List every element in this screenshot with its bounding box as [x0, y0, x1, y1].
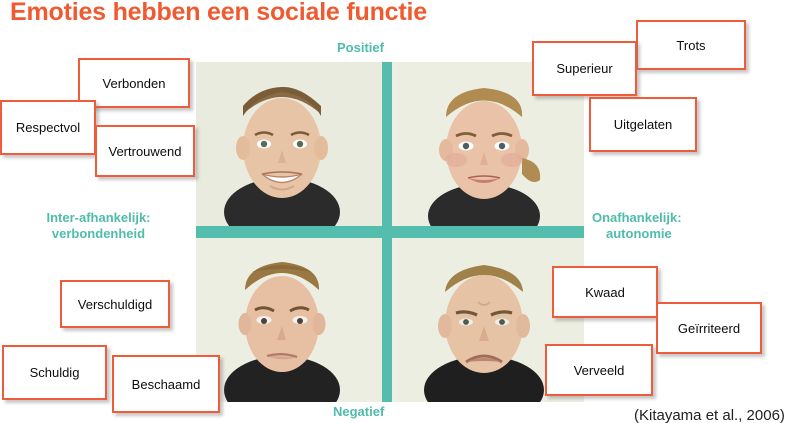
emotion-label-verveeld[interactable]: Verveeld [545, 344, 653, 396]
photo-smiling-young-man [196, 62, 382, 226]
emotion-label-kwaad[interactable]: Kwaad [552, 266, 658, 318]
axis-label-interdependent-line1: Inter-afhankelijk: [6, 210, 191, 226]
emotion-label-vertrouwend[interactable]: Vertrouwend [95, 125, 195, 177]
emotion-label-uitgelaten[interactable]: Uitgelaten [589, 97, 697, 152]
axis-label-positief: Positief [337, 40, 384, 56]
emotion-label-geirriteerd[interactable]: Geïrriteerd [656, 302, 762, 354]
axis-label-interdependent: Inter-afhankelijk: verbondenheid [6, 210, 191, 242]
emotion-label-superieur[interactable]: Superieur [532, 41, 637, 96]
emotion-quadrant-grid [196, 62, 584, 402]
emotion-label-beschaamd[interactable]: Beschaamd [112, 355, 220, 413]
emotion-label-trots[interactable]: Trots [636, 20, 746, 70]
axis-label-independent-line2: autonomie [592, 226, 797, 242]
axis-label-independent: Onafhankelijk: autonomie [592, 210, 797, 242]
axis-label-negatief: Negatief [333, 404, 384, 420]
axis-label-independent-line1: Onafhankelijk: [592, 210, 797, 226]
emotion-label-verschuldigd[interactable]: Verschuldigd [60, 280, 170, 328]
axis-label-interdependent-line2: verbondenheid [6, 226, 191, 242]
photo-downcast-young-woman [196, 238, 382, 402]
source-citation: (Kitayama et al., 2006) [634, 407, 785, 423]
emotion-label-schuldig[interactable]: Schuldig [2, 345, 107, 400]
page-title: Emoties hebben een sociale functie [10, 0, 427, 27]
emotion-label-respectvol[interactable]: Respectvol [0, 100, 96, 155]
horizontal-axis-line [196, 226, 584, 238]
slide-canvas: Emoties hebben een sociale functie [0, 0, 804, 423]
